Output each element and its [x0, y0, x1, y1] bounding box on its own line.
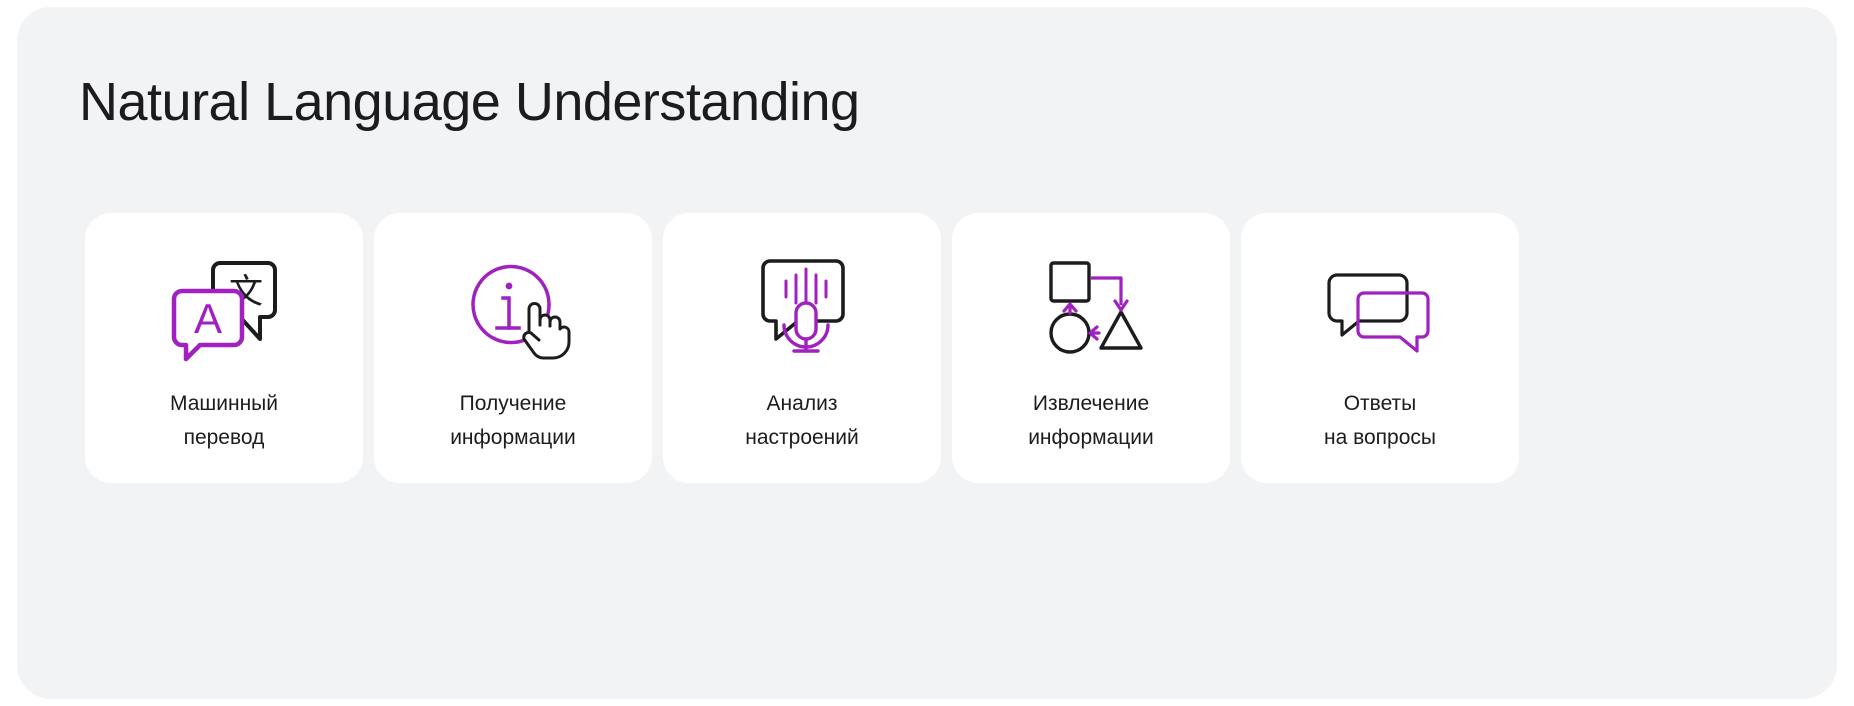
capability-card-list: 文 A Машинный перевод [85, 213, 1519, 483]
capability-card-information-retrieval[interactable]: Получение информации [374, 213, 652, 483]
information-extraction-icon [1029, 249, 1153, 361]
info-dot-icon [506, 283, 513, 290]
information-retrieval-icon [451, 249, 575, 361]
flowchart-circle-icon [1051, 314, 1089, 352]
capability-card-sentiment-analysis[interactable]: Анализ настроений [663, 213, 941, 483]
machine-translation-icon: 文 A [162, 249, 286, 361]
capability-card-machine-translation[interactable]: 文 A Машинный перевод [85, 213, 363, 483]
capability-card-label: Извлечение информации [1028, 387, 1154, 455]
capability-card-question-answering[interactable]: Ответы на вопросы [1241, 213, 1519, 483]
content-panel: Natural Language Understanding 文 A Машин… [17, 7, 1837, 699]
capability-card-label: Получение информации [450, 387, 576, 455]
capability-card-label: Машинный перевод [170, 387, 278, 455]
flowchart-square-icon [1051, 263, 1089, 301]
bubble-letter-a-glyph: A [194, 295, 222, 342]
sentiment-analysis-icon [740, 249, 864, 361]
question-answering-icon [1318, 249, 1442, 361]
flowchart-triangle-icon [1101, 312, 1141, 348]
capability-card-label: Ответы на вопросы [1324, 387, 1436, 455]
capability-card-information-extraction[interactable]: Извлечение информации [952, 213, 1230, 483]
capability-card-label: Анализ настроений [745, 387, 859, 455]
page-title: Natural Language Understanding [79, 71, 860, 133]
